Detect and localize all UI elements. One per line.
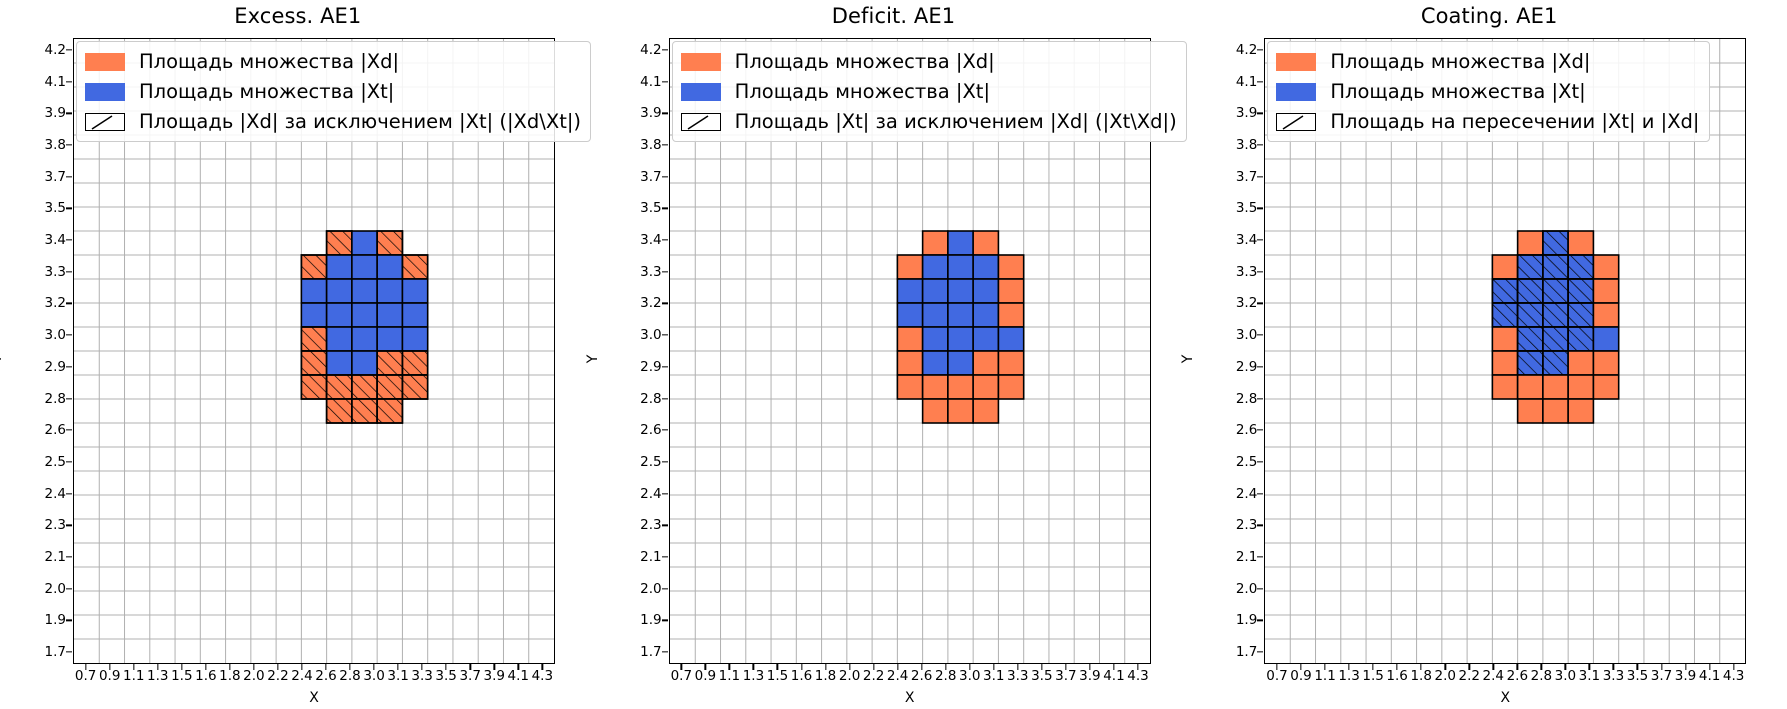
x-tick-mark	[1348, 664, 1349, 670]
y-tick-label: 3.9	[45, 105, 66, 121]
y-tick-label: 2.0	[1236, 581, 1257, 597]
x-tick-label: 3.5	[1031, 668, 1052, 684]
y-tick-mark	[66, 430, 72, 431]
legend-swatch-blue-icon	[681, 83, 721, 101]
y-tick-label: 3.7	[45, 169, 66, 185]
x-tick-label: 0.9	[99, 668, 120, 684]
x-axis-label: X	[669, 690, 1151, 706]
x-tick-mark	[1113, 664, 1114, 670]
y-tick-label: 2.6	[1236, 422, 1257, 438]
y-axis-ticks: 4.24.13.93.83.73.53.43.33.23.02.92.82.62…	[1191, 38, 1257, 664]
y-tick-label: 1.7	[1236, 644, 1257, 660]
x-tick-label: 2.8	[935, 668, 956, 684]
x-tick-label: 2.4	[1483, 668, 1504, 684]
x-tick-label: 3.7	[1055, 668, 1076, 684]
legend-label: Площадь множества |Xt|	[139, 82, 394, 102]
legend-label: Площадь множества |Xd|	[1330, 52, 1590, 72]
y-tick-label: 2.1	[640, 549, 661, 565]
x-tick-label: 4.3	[1723, 668, 1744, 684]
y-tick-mark	[1257, 366, 1263, 367]
y-tick-label: 1.7	[45, 644, 66, 660]
y-tick-label: 2.9	[640, 359, 661, 375]
legend-item[interactable]: Площадь множества |Xt|	[1276, 78, 1699, 105]
y-tick-mark	[66, 271, 72, 272]
y-tick-mark	[662, 493, 668, 494]
y-tick-mark	[66, 49, 72, 50]
x-tick-mark	[1041, 664, 1042, 670]
x-tick-label: 4.1	[508, 668, 529, 684]
y-tick-mark	[662, 271, 668, 272]
x-tick-label: 2.2	[863, 668, 884, 684]
y-tick-mark	[662, 113, 668, 114]
x-tick-mark	[681, 664, 682, 670]
x-tick-mark	[421, 664, 422, 670]
legend-label: Площадь |Xt| за исключением |Xd| (|Xt\Xd…	[735, 112, 1177, 132]
x-tick-mark	[1421, 664, 1422, 670]
y-tick-mark	[662, 49, 668, 50]
x-tick-label: 1.5	[767, 668, 788, 684]
y-tick-mark	[1257, 620, 1263, 621]
x-tick-mark	[1372, 664, 1373, 670]
y-tick-label: 1.9	[45, 612, 66, 628]
y-tick-mark	[1257, 335, 1263, 336]
x-tick-mark	[1517, 664, 1518, 670]
x-tick-mark	[969, 664, 970, 670]
legend-item[interactable]: Площадь на пересечении |Xt| и |Xd|	[1276, 108, 1699, 135]
legend-item[interactable]: Площадь множества |Xt|	[85, 78, 581, 105]
x-tick-mark	[542, 664, 543, 670]
x-tick-label: 2.8	[339, 668, 360, 684]
y-tick-label: 2.3	[1236, 517, 1257, 533]
y-tick-mark	[662, 461, 668, 462]
y-tick-label: 3.9	[1236, 105, 1257, 121]
y-tick-mark	[1257, 303, 1263, 304]
x-tick-mark	[1300, 664, 1301, 670]
y-tick-mark	[66, 303, 72, 304]
y-tick-label: 3.0	[1236, 327, 1257, 343]
legend-swatch-hatched-icon	[1276, 113, 1316, 131]
y-tick-mark	[66, 208, 72, 209]
legend-item[interactable]: Площадь множества |Xd|	[1276, 48, 1699, 75]
x-tick-label: 1.6	[1386, 668, 1407, 684]
x-tick-label: 3.1	[1579, 668, 1600, 684]
y-tick-mark	[66, 176, 72, 177]
y-tick-label: 4.1	[1236, 74, 1257, 90]
x-tick-label: 3.3	[1603, 668, 1624, 684]
y-tick-label: 3.2	[640, 295, 661, 311]
y-tick-mark	[66, 556, 72, 557]
y-tick-mark	[1257, 271, 1263, 272]
legend-item[interactable]: Площадь множества |Xt|	[681, 78, 1177, 105]
legend-label: Площадь множества |Xt|	[735, 82, 990, 102]
y-tick-mark	[66, 81, 72, 82]
y-tick-label: 1.9	[640, 612, 661, 628]
legend-label: Площадь множества |Xd|	[735, 52, 995, 72]
x-tick-label: 4.1	[1699, 668, 1720, 684]
y-tick-mark	[662, 430, 668, 431]
x-tick-label: 3.0	[363, 668, 384, 684]
x-tick-label: 1.6	[791, 668, 812, 684]
x-tick-mark	[494, 664, 495, 670]
x-tick-label: 0.9	[695, 668, 716, 684]
x-tick-label: 2.8	[1531, 668, 1552, 684]
legend-swatch-orange-icon	[681, 53, 721, 71]
x-tick-mark	[753, 664, 754, 670]
legend-label: Площадь на пересечении |Xt| и |Xd|	[1330, 112, 1699, 132]
x-tick-label: 1.5	[1362, 668, 1383, 684]
x-tick-mark	[109, 664, 110, 670]
y-axis-label: Y	[1180, 355, 1196, 364]
y-tick-mark	[1257, 176, 1263, 177]
x-tick-mark	[518, 664, 519, 670]
x-tick-label: 3.5	[1627, 668, 1648, 684]
y-tick-label: 2.6	[45, 422, 66, 438]
y-tick-mark	[66, 113, 72, 114]
y-tick-label: 2.4	[1236, 486, 1257, 502]
x-tick-mark	[945, 664, 946, 670]
x-tick-mark	[229, 664, 230, 670]
x-tick-label: 2.6	[911, 668, 932, 684]
y-tick-mark	[66, 651, 72, 652]
y-tick-label: 3.4	[640, 232, 661, 248]
y-axis-ticks: 4.24.13.93.83.73.53.43.33.23.02.92.82.62…	[0, 38, 66, 664]
y-tick-mark	[662, 81, 668, 82]
x-tick-mark	[470, 664, 471, 670]
x-tick-mark	[205, 664, 206, 670]
x-tick-label: 2.4	[291, 668, 312, 684]
y-tick-label: 2.5	[640, 454, 661, 470]
y-tick-mark	[1257, 525, 1263, 526]
x-tick-mark	[349, 664, 350, 670]
y-tick-mark	[662, 176, 668, 177]
x-tick-label: 4.3	[1127, 668, 1148, 684]
y-tick-label: 3.5	[640, 200, 661, 216]
x-tick-mark	[301, 664, 302, 670]
y-tick-label: 3.4	[1236, 232, 1257, 248]
y-tick-label: 3.8	[640, 137, 661, 153]
y-tick-mark	[1257, 461, 1263, 462]
y-tick-mark	[66, 335, 72, 336]
y-tick-label: 3.7	[1236, 169, 1257, 185]
x-tick-mark	[1565, 664, 1566, 670]
x-axis-label: X	[1264, 690, 1746, 706]
x-tick-label: 3.3	[1007, 668, 1028, 684]
x-tick-mark	[1709, 664, 1710, 670]
y-tick-label: 4.2	[1236, 42, 1257, 58]
y-tick-label: 3.9	[640, 105, 661, 121]
y-tick-label: 3.4	[45, 232, 66, 248]
y-tick-label: 3.2	[45, 295, 66, 311]
x-tick-mark	[325, 664, 326, 670]
legend-swatch-blue-icon	[1276, 83, 1316, 101]
x-tick-label: 2.2	[1459, 668, 1480, 684]
x-tick-mark	[705, 664, 706, 670]
y-tick-mark	[1257, 556, 1263, 557]
x-tick-label: 0.9	[1290, 668, 1311, 684]
legend-label: Площадь |Xd| за исключением |Xt| (|Xd\Xt…	[139, 112, 581, 132]
y-tick-label: 2.8	[45, 391, 66, 407]
y-tick-mark	[1257, 651, 1263, 652]
y-tick-mark	[66, 525, 72, 526]
panel-title: Excess. AE1	[0, 4, 596, 28]
y-tick-label: 3.3	[1236, 264, 1257, 280]
y-tick-label: 2.3	[640, 517, 661, 533]
x-tick-label: 4.1	[1103, 668, 1124, 684]
y-tick-mark	[662, 525, 668, 526]
y-tick-mark	[66, 239, 72, 240]
legend-item[interactable]: Площадь множества |Xd|	[85, 48, 581, 75]
x-tick-label: 1.3	[1338, 668, 1359, 684]
x-tick-label: 3.9	[483, 668, 504, 684]
panel-title: Deficit. AE1	[596, 4, 1192, 28]
x-tick-mark	[1089, 664, 1090, 670]
x-tick-mark	[1065, 664, 1066, 670]
y-tick-label: 2.1	[45, 549, 66, 565]
x-tick-mark	[1397, 664, 1398, 670]
y-tick-label: 3.3	[45, 264, 66, 280]
y-tick-mark	[1257, 49, 1263, 50]
x-tick-mark	[1589, 664, 1590, 670]
x-tick-label: 1.3	[743, 668, 764, 684]
y-tick-mark	[1257, 588, 1263, 589]
x-tick-label: 3.5	[435, 668, 456, 684]
y-tick-label: 3.8	[1236, 137, 1257, 153]
x-tick-mark	[1541, 664, 1542, 670]
legend-swatch-orange-icon	[85, 53, 125, 71]
x-tick-mark	[921, 664, 922, 670]
y-tick-label: 3.5	[45, 200, 66, 216]
x-tick-label: 2.6	[1507, 668, 1528, 684]
y-tick-label: 4.2	[640, 42, 661, 58]
x-tick-mark	[1661, 664, 1662, 670]
y-tick-mark	[662, 366, 668, 367]
y-tick-mark	[1257, 493, 1263, 494]
x-tick-mark	[849, 664, 850, 670]
y-tick-label: 2.9	[45, 359, 66, 375]
y-tick-mark	[1257, 239, 1263, 240]
x-tick-label: 2.0	[839, 668, 860, 684]
x-tick-mark	[373, 664, 374, 670]
legend-label: Площадь множества |Xt|	[1330, 82, 1585, 102]
x-tick-label: 4.3	[532, 668, 553, 684]
x-tick-mark	[1445, 664, 1446, 670]
y-tick-mark	[1257, 208, 1263, 209]
x-tick-label: 1.6	[195, 668, 216, 684]
x-tick-mark	[1276, 664, 1277, 670]
y-tick-mark	[66, 620, 72, 621]
x-tick-mark	[397, 664, 398, 670]
y-tick-mark	[1257, 398, 1263, 399]
x-tick-label: 1.1	[719, 668, 740, 684]
x-tick-label: 3.1	[387, 668, 408, 684]
panel-title: Coating. AE1	[1191, 4, 1787, 28]
y-tick-mark	[662, 144, 668, 145]
panel-3: Coating. AE14.24.13.93.83.73.53.43.33.23…	[1191, 0, 1787, 709]
y-tick-mark	[66, 366, 72, 367]
y-tick-label: 2.0	[640, 581, 661, 597]
legend: Площадь множества |Xd|Площадь множества …	[672, 41, 1187, 142]
x-tick-mark	[825, 664, 826, 670]
y-tick-mark	[1257, 113, 1263, 114]
y-axis-ticks: 4.24.13.93.83.73.53.43.33.23.02.92.82.62…	[596, 38, 662, 664]
x-tick-mark	[446, 664, 447, 670]
y-tick-label: 3.0	[45, 327, 66, 343]
x-tick-mark	[277, 664, 278, 670]
legend-item[interactable]: Площадь множества |Xd|	[681, 48, 1177, 75]
legend-swatch-hatched-icon	[85, 113, 125, 131]
y-tick-mark	[66, 493, 72, 494]
y-tick-mark	[1257, 81, 1263, 82]
x-tick-label: 1.1	[123, 668, 144, 684]
y-tick-label: 2.4	[45, 486, 66, 502]
y-tick-mark	[662, 651, 668, 652]
y-tick-mark	[662, 208, 668, 209]
x-tick-mark	[157, 664, 158, 670]
x-tick-mark	[85, 664, 86, 670]
y-tick-label: 4.2	[45, 42, 66, 58]
x-tick-mark	[897, 664, 898, 670]
y-tick-mark	[662, 620, 668, 621]
x-tick-mark	[1469, 664, 1470, 670]
x-tick-label: 3.9	[1079, 668, 1100, 684]
y-tick-mark	[662, 239, 668, 240]
x-tick-label: 0.7	[671, 668, 692, 684]
x-tick-mark	[1324, 664, 1325, 670]
legend: Площадь множества |Xd|Площадь множества …	[1267, 41, 1709, 142]
y-tick-label: 3.2	[1236, 295, 1257, 311]
x-tick-label: 2.0	[1434, 668, 1455, 684]
x-tick-mark	[993, 664, 994, 670]
y-tick-mark	[66, 144, 72, 145]
y-tick-mark	[662, 556, 668, 557]
x-tick-label: 2.6	[315, 668, 336, 684]
legend: Площадь множества |Xd|Площадь множества …	[76, 41, 591, 142]
y-tick-mark	[66, 398, 72, 399]
legend-swatch-blue-icon	[85, 83, 125, 101]
x-tick-mark	[253, 664, 254, 670]
legend-label: Площадь множества |Xd|	[139, 52, 399, 72]
legend-swatch-hatched-icon	[681, 113, 721, 131]
y-tick-label: 2.5	[1236, 454, 1257, 470]
legend-item[interactable]: Площадь |Xd| за исключением |Xt| (|Xd\Xt…	[85, 108, 581, 135]
x-tick-label: 1.8	[1410, 668, 1431, 684]
x-tick-label: 3.0	[959, 668, 980, 684]
x-tick-mark	[777, 664, 778, 670]
y-tick-label: 4.1	[45, 74, 66, 90]
y-tick-label: 2.8	[640, 391, 661, 407]
y-tick-label: 1.9	[1236, 612, 1257, 628]
x-tick-label: 1.5	[171, 668, 192, 684]
x-tick-label: 2.2	[267, 668, 288, 684]
y-tick-label: 3.3	[640, 264, 661, 280]
x-tick-mark	[1733, 664, 1734, 670]
x-tick-label: 3.7	[459, 668, 480, 684]
y-tick-label: 2.0	[45, 581, 66, 597]
panel-2: Deficit. AE14.24.13.93.83.73.53.43.33.23…	[596, 0, 1192, 709]
y-tick-mark	[1257, 430, 1263, 431]
x-tick-mark	[1137, 664, 1138, 670]
y-tick-label: 3.5	[1236, 200, 1257, 216]
figure-canvas: Excess. AE14.24.13.93.83.73.53.43.33.23.…	[0, 0, 1787, 709]
x-tick-mark	[801, 664, 802, 670]
y-tick-label: 4.1	[640, 74, 661, 90]
x-tick-label: 3.3	[411, 668, 432, 684]
x-tick-label: 1.1	[1314, 668, 1335, 684]
x-tick-label: 0.7	[1266, 668, 1287, 684]
x-tick-label: 2.0	[243, 668, 264, 684]
x-tick-label: 3.7	[1651, 668, 1672, 684]
legend-swatch-orange-icon	[1276, 53, 1316, 71]
y-tick-label: 1.7	[640, 644, 661, 660]
y-axis-label: Y	[0, 355, 5, 364]
y-axis-label: Y	[585, 355, 601, 364]
y-tick-label: 2.8	[1236, 391, 1257, 407]
x-tick-mark	[133, 664, 134, 670]
y-tick-mark	[662, 303, 668, 304]
y-tick-label: 2.4	[640, 486, 661, 502]
x-tick-mark	[181, 664, 182, 670]
y-tick-label: 3.7	[640, 169, 661, 185]
x-tick-mark	[873, 664, 874, 670]
x-tick-mark	[729, 664, 730, 670]
y-tick-label: 2.1	[1236, 549, 1257, 565]
x-tick-mark	[1493, 664, 1494, 670]
y-tick-label: 2.5	[45, 454, 66, 470]
x-tick-label: 0.7	[75, 668, 96, 684]
x-tick-mark	[1613, 664, 1614, 670]
x-tick-mark	[1017, 664, 1018, 670]
y-tick-mark	[662, 335, 668, 336]
y-tick-mark	[66, 588, 72, 589]
y-tick-label: 2.9	[1236, 359, 1257, 375]
legend-item[interactable]: Площадь |Xt| за исключением |Xd| (|Xt\Xd…	[681, 108, 1177, 135]
panel-1: Excess. AE14.24.13.93.83.73.53.43.33.23.…	[0, 0, 596, 709]
y-tick-mark	[662, 398, 668, 399]
x-tick-label: 1.8	[219, 668, 240, 684]
x-axis-label: X	[73, 690, 555, 706]
x-tick-label: 3.1	[983, 668, 1004, 684]
y-tick-label: 3.8	[45, 137, 66, 153]
x-tick-label: 1.8	[815, 668, 836, 684]
x-tick-label: 3.9	[1675, 668, 1696, 684]
y-tick-label: 3.0	[640, 327, 661, 343]
y-tick-mark	[66, 461, 72, 462]
y-tick-mark	[662, 588, 668, 589]
x-tick-mark	[1685, 664, 1686, 670]
x-tick-mark	[1637, 664, 1638, 670]
x-tick-label: 3.0	[1555, 668, 1576, 684]
y-tick-mark	[1257, 144, 1263, 145]
y-tick-label: 2.6	[640, 422, 661, 438]
x-tick-label: 1.3	[147, 668, 168, 684]
x-tick-label: 2.4	[887, 668, 908, 684]
y-tick-label: 2.3	[45, 517, 66, 533]
